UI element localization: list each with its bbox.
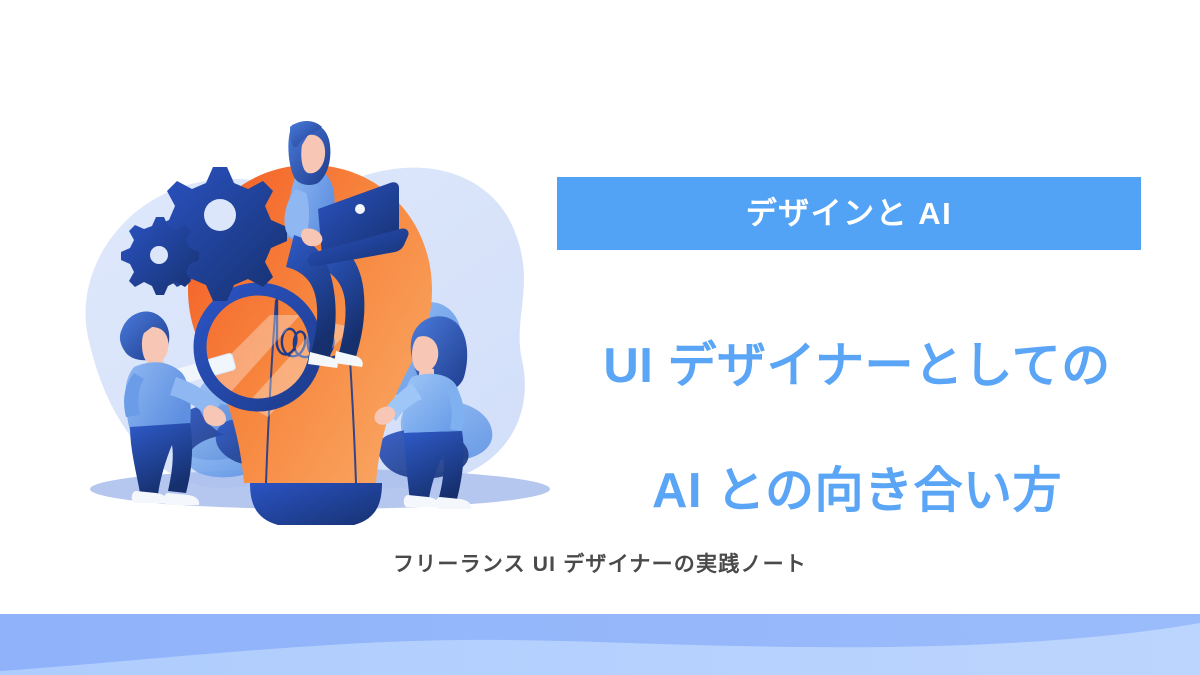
page-title: UI デザイナーとしての AI との向き合い方: [557, 272, 1157, 586]
wave-overlay: [0, 623, 1200, 675]
bulb-base: [250, 483, 382, 525]
bottom-wave-decoration: [0, 605, 1200, 675]
eyebrow-badge: デザインと AI: [557, 177, 1141, 250]
eyebrow-label: デザインと AI: [746, 198, 953, 229]
small-gear: [121, 217, 199, 295]
caption: フリーランス UI デザイナーの実践ノート: [0, 548, 1200, 578]
caption-text: フリーランス UI デザイナーの実践ノート: [393, 548, 807, 578]
slide-canvas: デザインと AI UI デザイナーとしての AI との向き合い方 フリーランス …: [0, 0, 1200, 675]
wave-band: [0, 614, 1200, 675]
lightbulb-teamwork-illustration: [60, 105, 580, 525]
page-title-line-1: UI デザイナーとしての: [557, 335, 1157, 398]
page-title-line-2: AI との向き合い方: [557, 460, 1157, 523]
headline-block: デザインと AI UI デザイナーとしての AI との向き合い方: [557, 177, 1157, 586]
